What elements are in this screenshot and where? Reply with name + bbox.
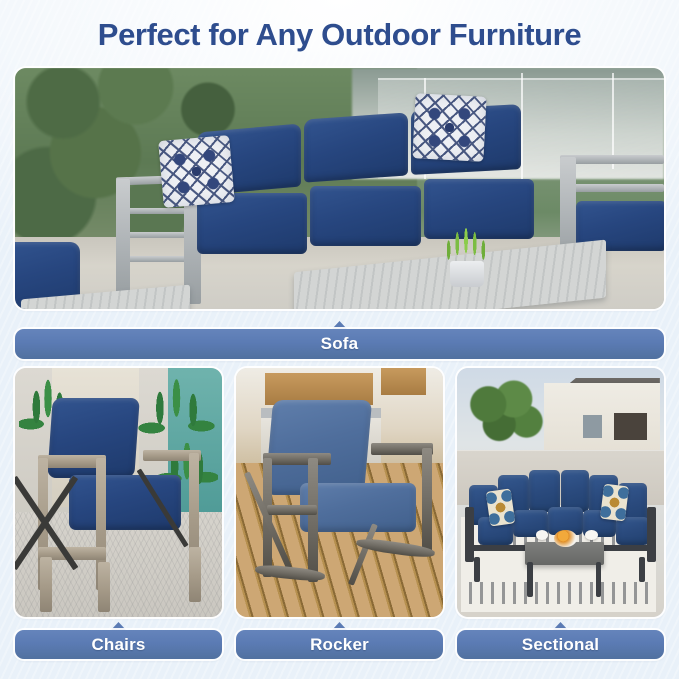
label-bar-rocker[interactable]: Rocker bbox=[236, 630, 443, 659]
label-bar-sectional[interactable]: Sectional bbox=[457, 630, 664, 659]
caret-chairs bbox=[111, 622, 126, 630]
label-bar-chairs[interactable]: Chairs bbox=[15, 630, 222, 659]
image-card-chairs[interactable] bbox=[15, 368, 222, 617]
promo-page: Perfect for Any Outdoor Furniture bbox=[0, 0, 679, 679]
caret-sofa bbox=[332, 321, 347, 329]
image-card-sectional[interactable] bbox=[457, 368, 664, 617]
page-title: Perfect for Any Outdoor Furniture bbox=[0, 17, 679, 53]
sofa-photo bbox=[15, 68, 664, 309]
label-rocker: Rocker bbox=[310, 635, 369, 655]
page-title-text: Perfect for Any Outdoor Furniture bbox=[0, 17, 679, 53]
chairs-photo bbox=[15, 368, 222, 617]
caret-rocker bbox=[332, 622, 347, 630]
label-sofa: Sofa bbox=[321, 334, 359, 354]
sectional-photo bbox=[457, 368, 664, 617]
hero-image-card-sofa[interactable] bbox=[15, 68, 664, 309]
image-card-rocker[interactable] bbox=[236, 368, 443, 617]
label-chairs: Chairs bbox=[91, 635, 145, 655]
label-sectional: Sectional bbox=[522, 635, 599, 655]
caret-sectional bbox=[553, 622, 568, 630]
rocker-photo bbox=[236, 368, 443, 617]
label-bar-sofa[interactable]: Sofa bbox=[15, 329, 664, 359]
